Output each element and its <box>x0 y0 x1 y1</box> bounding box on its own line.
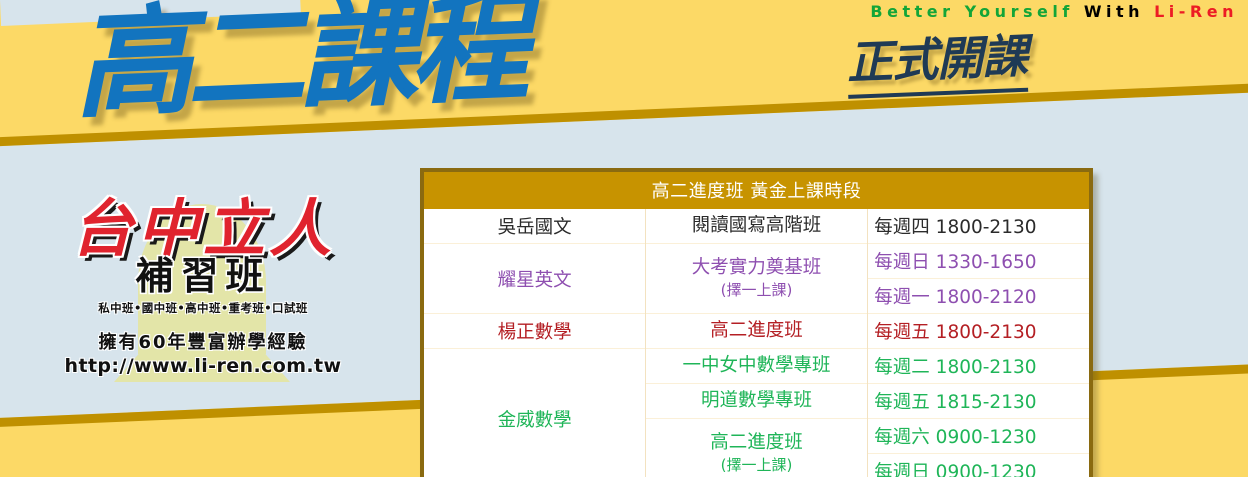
logo-brand-name: 台中立人 <box>28 196 378 261</box>
table-row: 楊正數學高二進度班每週五 1800-2130 <box>424 314 1089 349</box>
cell-teacher: 金威數學 <box>424 349 646 477</box>
course-note: (擇一上課) <box>721 281 793 299</box>
cell-course: 大考實力奠基班(擇一上課) <box>646 244 868 314</box>
schedule-table-head: 高二進度班 黃金上課時段 <box>424 172 1089 209</box>
tagline-red-text: Li-Ren <box>1154 2 1238 21</box>
headline-group: 高二課程 正式開課 <box>72 0 524 124</box>
headline-subtitle: 正式開課 <box>845 20 1028 99</box>
logo-class-list: 私中班•國中班•高中班•重考班•口試班 <box>28 300 378 316</box>
cell-teacher: 吳岳國文 <box>424 209 646 244</box>
poster-canvas: Better Yourself With Li-Ren 高二課程 正式開課 台中… <box>0 0 1248 477</box>
schedule-table: 高二進度班 黃金上課時段 吳岳國文閱讀國寫高階班每週四 1800-2130耀星英… <box>424 172 1089 477</box>
logo-brand-subtitle: 補習班 <box>28 257 378 297</box>
tagline: Better Yourself With Li-Ren <box>870 2 1238 21</box>
schedule-table-container: 高二進度班 黃金上課時段 吳岳國文閱讀國寫高階班每週四 1800-2130耀星英… <box>420 168 1093 477</box>
tagline-green-text: Better Yourself <box>870 2 1073 21</box>
table-row: 金威數學一中女中數學專班每週二 1800-2130 <box>424 349 1089 384</box>
cell-course: 一中女中數學專班 <box>646 349 868 384</box>
cell-time: 每週四 1800-2130 <box>867 209 1089 244</box>
cell-time: 每週五 1815-2130 <box>867 384 1089 419</box>
cell-course: 閱讀國寫高階班 <box>646 209 868 244</box>
tagline-black-text: With <box>1084 2 1144 21</box>
schedule-table-body: 吳岳國文閱讀國寫高階班每週四 1800-2130耀星英文大考實力奠基班(擇一上課… <box>424 209 1089 477</box>
page-title: 高二課程 <box>72 0 524 124</box>
cell-time: 每週六 0900-1230 <box>867 419 1089 454</box>
cell-course: 明道數學專班 <box>646 384 868 419</box>
table-header-row: 高二進度班 黃金上課時段 <box>424 172 1089 209</box>
cell-time: 每週一 1800-2120 <box>867 279 1089 314</box>
cell-time: 每週五 1800-2130 <box>867 314 1089 349</box>
table-header-title: 高二進度班 黃金上課時段 <box>424 172 1089 209</box>
cell-time: 每週日 0900-1230 <box>867 454 1089 477</box>
table-row: 吳岳國文閱讀國寫高階班每週四 1800-2130 <box>424 209 1089 244</box>
logo-website-url: http://www.li-ren.com.tw <box>28 355 378 377</box>
cell-teacher: 楊正數學 <box>424 314 646 349</box>
course-note: (擇一上課) <box>721 456 793 474</box>
brand-logo: 台中立人 補習班 私中班•國中班•高中班•重考班•口試班 擁有60年豐富辦學經驗… <box>28 196 378 377</box>
cell-time: 每週日 1330-1650 <box>867 244 1089 279</box>
cell-time: 每週二 1800-2130 <box>867 349 1089 384</box>
logo-experience-text: 擁有60年豐富辦學經驗 <box>28 328 378 354</box>
cell-teacher: 耀星英文 <box>424 244 646 314</box>
table-row: 耀星英文大考實力奠基班(擇一上課)每週日 1330-1650 <box>424 244 1089 279</box>
cell-course: 高二進度班(擇一上課) <box>646 419 868 477</box>
cell-course: 高二進度班 <box>646 314 868 349</box>
